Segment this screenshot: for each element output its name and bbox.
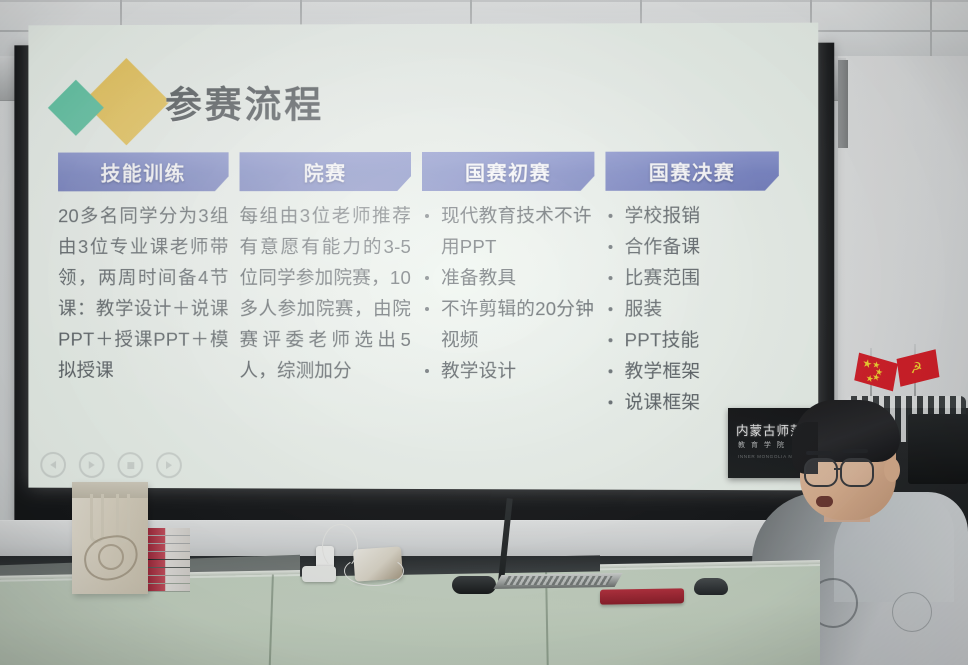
column-national-final: 国赛决赛 学校报销 合作备课 比赛范围 服装 PPT技能 教学框架 说课框架 (605, 151, 778, 417)
column-heading-label: 国赛决赛 (649, 157, 736, 186)
list-item: 教学设计 (422, 355, 594, 386)
list-item: 不许剪辑的20分钟视频 (422, 293, 594, 355)
play-icon[interactable] (79, 452, 105, 478)
list-item: PPT技能 (605, 324, 778, 355)
list-item: 学校报销 (605, 200, 778, 231)
list-item: 服装 (605, 293, 778, 324)
column-bullet-list: 学校报销 合作备课 比赛范围 服装 PPT技能 教学框架 说课框架 (605, 200, 778, 418)
bag-graphic-detail (98, 544, 124, 570)
eyeglasses-right-lens (840, 458, 874, 487)
bag-top-fold (72, 482, 148, 498)
presentation-slide: 参赛流程 技能训练 20多名同学分为3组由3位专业课老师带领，两周时间备4节课：… (28, 23, 818, 491)
china-national-flag-icon: ★ ★ ★ ★ ★ (854, 353, 898, 392)
eyeglasses-left-lens (804, 458, 838, 487)
dark-desk-object (452, 576, 496, 594)
jacket-logo-secondary (892, 592, 932, 632)
person-ear (884, 458, 900, 482)
column-national-prelim: 国赛初赛 现代教育技术不许用PPT 准备教具 不许剪辑的20分钟视频 教学设计 (422, 152, 594, 418)
computer-mouse (694, 578, 728, 595)
column-bullet-list: 现代教育技术不许用PPT 准备教具 不许剪辑的20分钟视频 教学设计 (422, 200, 594, 386)
column-heading-label: 国赛初赛 (465, 157, 551, 186)
person-mouth (816, 496, 833, 507)
communist-party-flag-icon: ☭ (897, 349, 940, 386)
slide-title: 参赛流程 (165, 74, 324, 128)
list-item: 合作备课 (605, 231, 778, 262)
cable (344, 556, 404, 586)
eyeglasses-bridge (834, 468, 842, 470)
slide-columns: 技能训练 20多名同学分为3组由3位专业课老师带领，两周时间备4节课：教学设计＋… (58, 151, 800, 418)
list-item: 现代教育技术不许用PPT (422, 200, 594, 262)
laptop-keyboard (503, 576, 612, 585)
column-body: 学校报销 合作备课 比赛范围 服装 PPT技能 教学框架 说课框架 (605, 200, 778, 418)
column-body: 现代教育技术不许用PPT 准备教具 不许剪辑的20分钟视频 教学设计 (422, 200, 594, 386)
list-item: 教学框架 (605, 355, 778, 386)
screen-bracket (838, 60, 848, 148)
power-adapter-secondary (302, 566, 336, 582)
photo-scene: 参赛流程 技能训练 20多名同学分为3组由3位专业课老师带领，两周时间备4节课：… (0, 0, 968, 665)
stacked-booklets (148, 528, 190, 594)
column-heading-banner: 院赛 (240, 152, 411, 191)
red-pencil-case (600, 588, 684, 604)
column-heading-banner: 技能训练 (58, 152, 229, 191)
column-heading-banner: 国赛决赛 (605, 151, 778, 190)
column-skill-training: 技能训练 20多名同学分为3组由3位专业课老师带领，两周时间备4节课：教学设计＋… (58, 152, 229, 416)
list-item: 准备教具 (422, 262, 594, 293)
paper-bag (72, 482, 148, 594)
person-eyebrow (842, 449, 868, 453)
slide-media-controls[interactable] (40, 452, 182, 478)
column-heading-label: 技能训练 (101, 157, 186, 186)
column-body: 20多名同学分为3组由3位专业课老师带领，两周时间备4节课：教学设计＋说课PPT… (58, 200, 229, 385)
person-eyebrow (806, 451, 832, 455)
list-item: 比赛范围 (605, 262, 778, 293)
column-heading-label: 院赛 (304, 157, 347, 186)
column-college-contest: 院赛 每组由3位老师推荐有意愿有能力的3-5位同学参加院赛，10多人参加院赛，由… (240, 152, 411, 417)
prev-icon[interactable] (40, 452, 66, 478)
column-body: 每组由3位老师推荐有意愿有能力的3-5位同学参加院赛，10多人参加院赛，由院赛评… (240, 200, 411, 386)
bag-handle (90, 494, 104, 543)
slide-logo (52, 71, 161, 135)
column-paragraph: 每组由3位老师推荐有意愿有能力的3-5位同学参加院赛，10多人参加院赛，由院赛评… (240, 200, 411, 386)
next-icon[interactable] (156, 452, 182, 478)
column-paragraph: 20多名同学分为3组由3位专业课老师带领，两周时间备4节课：教学设计＋说课PPT… (58, 200, 229, 385)
column-heading-banner: 国赛初赛 (422, 152, 594, 191)
stop-icon[interactable] (117, 452, 143, 478)
